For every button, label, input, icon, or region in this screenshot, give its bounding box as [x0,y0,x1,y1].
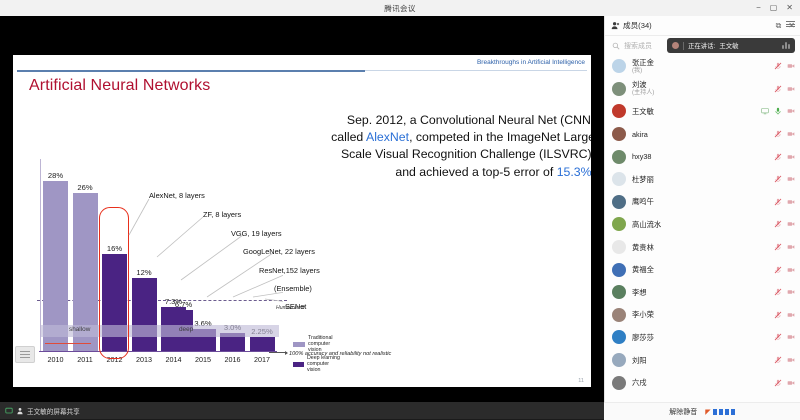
participant-name: 黄贵林 [632,243,654,252]
active-speaker-badge: 正在讲话: 王文敏 [667,38,795,53]
participant-row[interactable]: 张正金(我) [605,55,800,78]
camera-icon[interactable] [787,175,795,183]
chart-legend: Traditional computer visionDeep learning… [293,333,343,373]
slide-header-rule [17,70,587,71]
avatar [612,330,626,344]
participant-name: 杜梦丽 [632,175,654,184]
participant-row[interactable]: 李小荣 [605,304,800,327]
annotation-ensemble: (Ensemble) [274,284,312,293]
participant-status-icons [774,168,795,191]
panel-title: 成员(34) [623,20,652,31]
participant-status-icons [774,236,795,259]
era-band: shallow deep [41,325,279,337]
speaker-avatar [672,42,679,49]
meeting-window: 腾讯会议 − ▢ ✕ Breakthroughs in Artificial I… [0,0,800,419]
participant-row[interactable]: 刘阳 [605,349,800,372]
panel-header: 成员(34) ⧉ ✕ [605,16,800,36]
minimize-button[interactable]: − [756,4,761,12]
legend-item: Traditional computer vision [293,335,343,353]
bar-year-label: 2017 [254,355,270,364]
share-status-bar: 王文敏的屏幕共享 [0,402,614,419]
share-label: 王文敏的屏幕共享 [27,406,80,416]
participant-info: 刘阳 [632,356,647,365]
avatar [612,82,626,96]
year-2012-highlight [99,207,129,359]
audio-wave-icon [782,42,790,49]
camera-icon[interactable] [787,356,795,364]
participant-status-icons [761,100,795,123]
speaking-name: 王文敏 [719,41,738,50]
title-bar: 腾讯会议 − ▢ ✕ [0,0,800,17]
people-icon [611,21,620,30]
avatar [612,308,626,322]
participants-panel: 成员(34) ⧉ ✕ 搜索成员 正在讲话: 王文敏 [604,16,800,419]
participant-name: akira [632,130,648,139]
logo-dots [713,409,735,415]
brand-logo: ◤ [705,408,734,416]
participant-name: hxy38 [632,152,651,161]
legend-swatch [293,342,305,347]
app-title: 腾讯会议 [384,3,416,14]
paragraph-line-2b: , competed in the ImageNet Large [409,130,591,144]
participant-info: 王文敏 [632,107,654,116]
annotation-vgg: VGG, 19 layers [231,229,282,238]
search-icon [612,42,620,50]
participant-info: 高山流水 [632,220,661,229]
avatar [612,59,626,73]
avatar [612,150,626,164]
bar-fill [132,278,157,351]
share-indicator[interactable]: 王文敏的屏幕共享 [5,406,80,416]
participant-row[interactable]: 高山流水 [605,213,800,236]
camera-icon[interactable] [787,379,795,387]
camera-icon[interactable] [787,130,795,138]
slide-header-text: Breakthroughs in Artificial Intelligence [477,59,585,66]
bar-value-label: 28% [48,171,63,180]
participant-status-icons [774,281,795,304]
mic-muted-icon[interactable] [774,356,782,364]
participant-status-icons [774,326,795,349]
alexnet-link: AlexNet [366,130,409,144]
participant-info: 李想 [632,288,647,297]
logo-mark: ◤ [705,408,710,416]
paragraph-line-1: Sep. 2012, a Convolutional Neural Net (C… [265,112,591,129]
participant-info: 李小荣 [632,310,654,319]
participant-info: 杜梦丽 [632,175,654,184]
window-controls: − ▢ ✕ [756,0,798,16]
chart-x-axis [39,351,277,352]
participant-name: 刘阳 [632,356,647,365]
participant-status-icons [774,213,795,236]
note-arrow [269,352,287,353]
participant-status-icons [774,258,795,281]
speaking-prefix: 正在讲话: [688,41,715,50]
participant-name: 六戌 [632,378,647,387]
participant-row[interactable]: 李想 [605,281,800,304]
participant-role-tag: (主持人) [632,89,654,97]
avatar [612,217,626,231]
screen-share-icon[interactable] [761,107,769,115]
participant-row[interactable]: 六戌 [605,371,800,394]
participant-info: 张正金(我) [632,58,654,75]
participant-row[interactable]: 王文敏 [605,100,800,123]
participant-name: 鹰鸣午 [632,197,654,206]
slide-thumbnail-toggle[interactable] [15,346,35,363]
paragraph-line-4: and achieved a top-5 error of 15.3%. [265,164,591,181]
slide-header-rule-accent [17,70,365,72]
paragraph-line-4a: and achieved a top-5 error of [395,165,556,179]
legend-swatch [293,362,304,367]
participant-status-icons [774,123,795,146]
mic-muted-icon[interactable] [774,266,782,274]
popout-icon[interactable]: ⧉ [776,21,782,31]
participant-row[interactable]: 刘波(主持人) [605,78,800,101]
band-label-shallow: shallow [69,326,90,333]
camera-icon[interactable] [787,243,795,251]
camera-icon[interactable] [787,62,795,70]
annotation-googlenet: GoogLeNet, 22 layers [243,247,315,256]
mic-muted-icon[interactable] [774,175,782,183]
paragraph-line-3: Scale Visual Recognition Challenge (ILSV… [265,146,591,163]
bar-value-label: 26% [77,183,92,192]
legend-label: Traditional computer vision [308,335,343,353]
participant-name: 高山流水 [632,220,661,229]
bar-year-label: 2015 [195,355,211,364]
participant-info: 黄福全 [632,265,654,274]
camera-icon[interactable] [787,198,795,206]
participant-role-tag: (我) [632,67,654,75]
participant-list[interactable]: 张正金(我) 刘波(主持人) 王文敏 akira hxy38 [605,55,800,400]
ilsvrc-error-chart: Human error 100% accuracy and reliabilit… [21,139,283,379]
mic-muted-icon[interactable] [774,153,782,161]
presentation-slide: Breakthroughs in Artificial Intelligence… [13,55,591,387]
annotation-zf: ZF, 8 layers [203,210,241,219]
person-icon [16,407,24,415]
bar-fill [250,337,275,351]
avatar [612,285,626,299]
screen-share-icon [5,407,13,415]
participant-info: 鹰鸣午 [632,197,654,206]
shallow-underline [45,343,91,344]
participant-name: 王文敏 [632,107,654,116]
search-placeholder: 搜索成员 [624,41,652,51]
band-label-deep: deep [179,326,193,333]
avatar [612,376,626,390]
annotation-resnet: ResNet,152 layers [259,266,320,275]
camera-icon[interactable] [787,266,795,274]
bar-value-label: 6.7% [175,300,192,309]
mic-muted-icon[interactable] [774,288,782,296]
maximize-button[interactable]: ▢ [770,4,778,12]
paragraph-line-2a: called [331,130,366,144]
mic-muted-icon[interactable] [774,198,782,206]
top5-error-value: 15.3% [557,165,591,179]
avatar [612,263,626,277]
participant-status-icons [774,145,795,168]
bar-year-label: 2010 [48,355,64,364]
avatar [612,104,626,118]
bar-year-label: 2014 [166,355,182,364]
camera-icon[interactable] [787,288,795,296]
mic-muted-icon[interactable] [774,85,782,93]
participant-info: hxy38 [632,152,651,161]
participant-status-icons [774,304,795,327]
paragraph-line-2: called AlexNet, competed in the ImageNet… [265,129,591,146]
slide-page-number: 11 [578,378,584,384]
mic-muted-icon[interactable] [774,130,782,138]
participant-row[interactable]: 杜梦丽 [605,168,800,191]
chart-bar: 2.25%2017 [250,337,275,351]
bar-value-label: 12% [136,268,151,277]
participant-name: 李小荣 [632,310,654,319]
legend-label: Deep learning computer vision [307,355,343,373]
bar-year-label: 2016 [225,355,241,364]
participant-row[interactable]: 廖莎莎 [605,326,800,349]
participant-info: 黄贵林 [632,243,654,252]
camera-icon[interactable] [787,85,795,93]
participant-status-icons [774,55,795,78]
mic-muted-icon[interactable] [774,379,782,387]
participant-name: 廖莎莎 [632,333,654,342]
participant-row[interactable]: akira [605,123,800,146]
participant-row[interactable]: 鹰鸣午 [605,191,800,214]
shared-screen-stage: Breakthroughs in Artificial Intelligence… [0,16,604,402]
camera-icon[interactable] [787,311,795,319]
mic-active-icon[interactable] [774,107,782,115]
annotation-senet: SENet [285,302,306,311]
slide-title: Artificial Neural Networks [29,77,210,95]
participant-name: 李想 [632,288,647,297]
participant-status-icons [774,371,795,394]
participant-info: 廖莎莎 [632,333,654,342]
mic-muted-icon[interactable] [774,220,782,228]
participant-row[interactable]: hxy38 [605,145,800,168]
bar-year-label: 2011 [77,355,92,364]
mic-muted-icon[interactable] [774,333,782,341]
mic-muted-icon[interactable] [774,311,782,319]
search-row: 搜索成员 正在讲话: 王文敏 [605,36,800,56]
mic-muted-icon[interactable] [774,62,782,70]
mic-muted-icon[interactable] [774,243,782,251]
participant-info: 刘波(主持人) [632,80,654,97]
slide-paragraph: Sep. 2012, a Convolutional Neural Net (C… [265,112,591,181]
annotation-alexnet: AlexNet, 8 layers [149,191,205,200]
participant-name: 张正金 [632,58,654,67]
participant-info: akira [632,130,648,139]
chart-bar: 12%2013 [132,278,157,351]
camera-icon[interactable] [787,220,795,228]
participant-status-icons [774,191,795,214]
participant-info: 六戌 [632,378,647,387]
participant-row[interactable]: 黄福全 [605,258,800,281]
participant-status-icons [774,349,795,372]
camera-icon[interactable] [787,153,795,161]
avatar [612,172,626,186]
panel-menu-icon[interactable] [786,21,795,27]
panel-footer: 解除静音 ◤ [604,402,800,420]
camera-icon[interactable] [787,107,795,115]
bar-year-label: 2013 [136,355,152,364]
unmute-button[interactable]: 解除静音 [669,407,697,417]
camera-icon[interactable] [787,333,795,341]
participant-name: 黄福全 [632,265,654,274]
legend-item: Deep learning computer vision [293,355,343,373]
participant-row[interactable]: 黄贵林 [605,236,800,259]
avatar [612,240,626,254]
close-button[interactable]: ✕ [786,4,793,12]
speaker-divider [683,42,684,50]
avatar [612,195,626,209]
avatar [612,127,626,141]
participant-status-icons [774,78,795,101]
avatar [612,353,626,367]
